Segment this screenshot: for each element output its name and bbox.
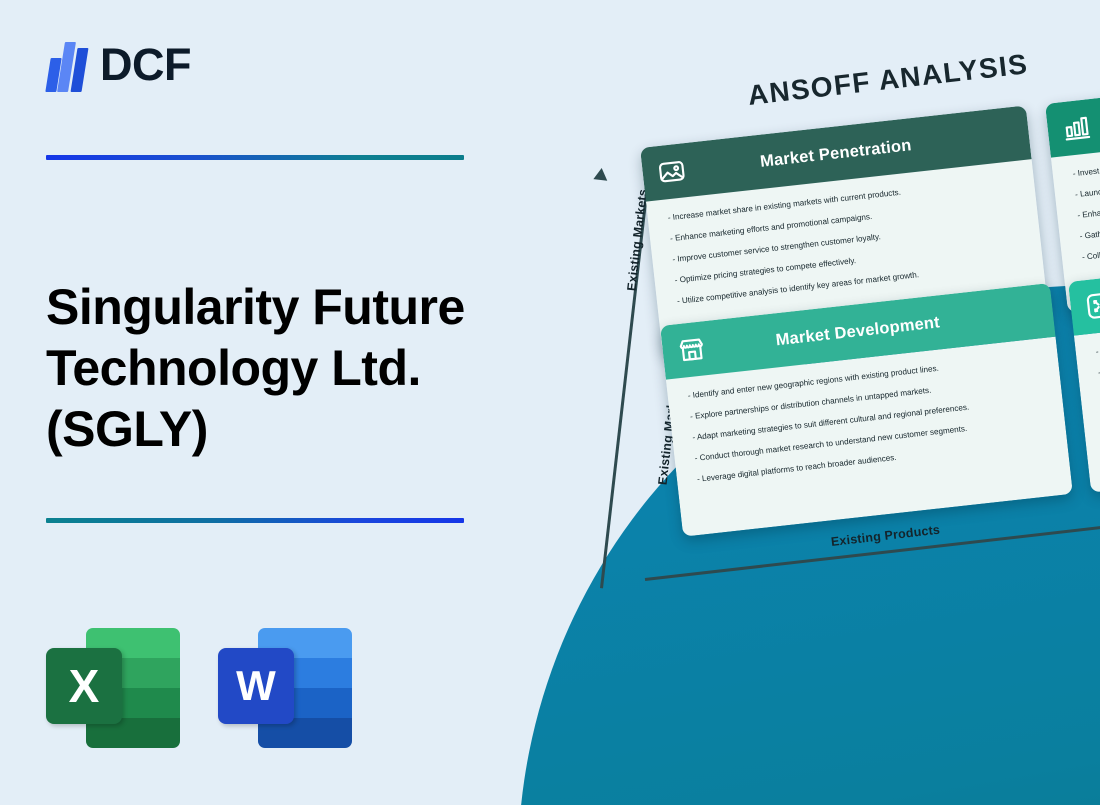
brand-logo[interactable]: DCF [46, 36, 191, 92]
storefront-icon [675, 333, 708, 366]
logo-wordmark: DCF [100, 42, 191, 87]
file-format-icons: X W [46, 622, 352, 750]
card-product-development[interactable]: Product Development Invest in research a… [1045, 61, 1100, 312]
divider-top [46, 155, 464, 160]
word-file-icon[interactable]: W [218, 622, 352, 750]
x-axis-label: Existing Products [830, 523, 941, 549]
slide-canvas: ANSOFF ANALYSIS Existing Markets Existin… [0, 0, 1100, 805]
card-market-development[interactable]: Market Development Identify and enter ne… [660, 283, 1073, 537]
divider-bottom [46, 518, 464, 523]
excel-letter: X [46, 648, 122, 724]
page-title: Singularity Future Technology Ltd. (SGLY… [46, 277, 526, 460]
card-header: Product Development [1045, 61, 1100, 157]
bar-chart-icon [1060, 111, 1093, 144]
bullet-list: Identify and enter new geographic region… [687, 353, 1049, 486]
left-panel: DCF Singularity Future Technology Ltd. (… [0, 0, 560, 805]
word-letter: W [218, 648, 294, 724]
image-icon [655, 155, 688, 188]
ansoff-title: ANSOFF ANALYSIS [746, 48, 1030, 112]
bullet-list: Increase market share in existing market… [667, 175, 1025, 307]
ansoff-matrix: ANSOFF ANALYSIS Existing Markets Existin… [560, 0, 1100, 805]
expand-arrows-icon [1083, 289, 1100, 322]
y-axis-arrow-icon [593, 167, 608, 181]
dcf-bars-logo-icon [46, 36, 90, 92]
graphic-clip-region: ANSOFF ANALYSIS Existing Markets Existin… [560, 0, 1100, 805]
excel-file-icon[interactable]: X [46, 622, 180, 750]
